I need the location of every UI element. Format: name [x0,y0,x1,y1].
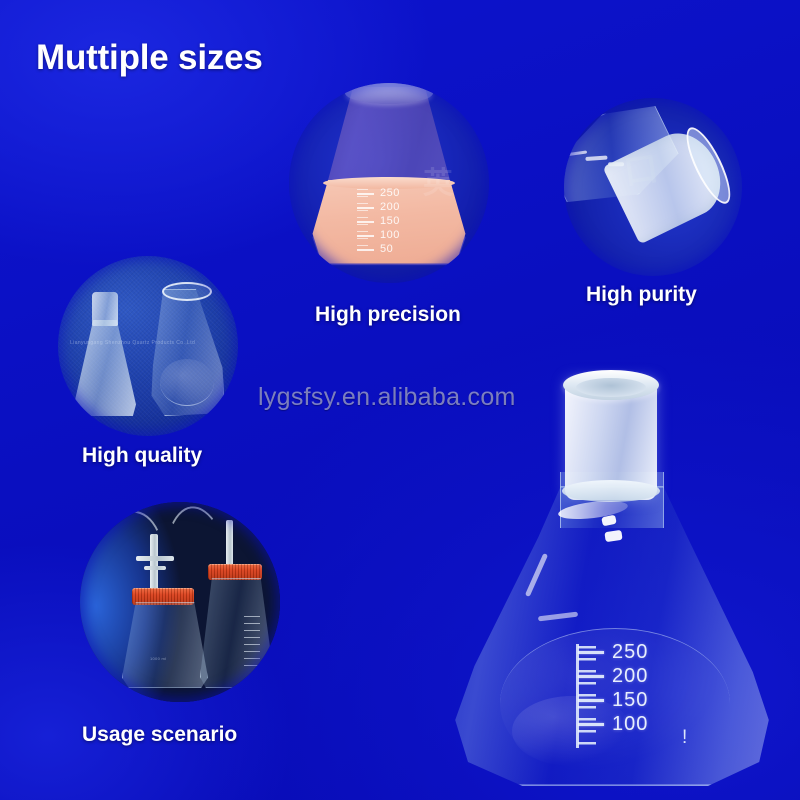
graduation-row: 150 [578,688,698,712]
graduation-label: 150 [612,690,648,710]
photo-high-quality: Lianyungang Shenzhou Quartz Products Co.… [58,256,238,436]
caption-usage-scenario: Usage scenario [82,723,237,747]
photo-tile-high-purity[interactable]: 口 [564,98,742,276]
bottle-cap [208,564,262,580]
glass-highlight [585,156,607,162]
graduation-tick [357,249,374,251]
sampling-stem [226,520,233,568]
stopcock-arm [144,566,166,570]
clear-flask [150,282,222,414]
graduation-tick [357,193,374,195]
graduation-tick [357,235,374,237]
caption-high-quality: High quality [82,444,202,468]
graduation-label: 250 [612,642,648,662]
flask-right [200,520,272,686]
graduation-scale: 250 200 150 100 [357,187,433,257]
flask-body [74,320,136,416]
flask-rim [162,282,212,301]
graduation-tick [357,221,374,223]
graduation-row: 250 [578,640,698,664]
graduation-label: 150 [380,216,400,227]
flask-rim [345,83,433,104]
joint-base-ring [562,480,660,502]
joint-mouth-opening [576,378,646,397]
caption-high-purity: High purity [586,283,697,307]
flask-cone [200,578,274,688]
graduation-row: 250 [357,187,433,201]
photo-high-precision: 英 250 200 150 [289,83,489,283]
graduation-row: 100 [357,229,433,243]
graduation-label: 100 [612,714,648,734]
graduation-label: 200 [612,666,648,686]
photo-high-purity: 口 [564,98,742,276]
photo-tile-usage-scenario[interactable]: 1000 ml [80,502,280,702]
graduation-row: 150 [357,215,433,229]
flask-left: 1000 ml [122,534,206,684]
graduation-mark-symbol: ! [682,728,687,747]
sampling-stem [150,534,158,592]
photo-stamp-text: Lianyungang Shenzhou Quartz Products Co.… [70,340,228,346]
photo-tile-high-precision[interactable]: 英 250 200 150 [289,83,489,283]
joint-opening-ring [678,122,738,209]
flask-cone [122,602,208,688]
graduation-label: 50 [380,244,393,255]
flask-neck [92,292,118,326]
graduation-tick [578,651,604,654]
glass-highlight [564,150,587,157]
graduation-tick [578,723,604,726]
graduation-label: 250 [380,188,400,199]
pink-filled-flask: 英 250 200 150 [311,85,467,267]
caption-high-precision: High precision [315,303,461,327]
main-product-flask: 250 200 150 100 ! [452,376,772,796]
graduation-label: 200 [380,202,400,213]
flask-label: 1000 ml [150,656,166,661]
page-title: Muttiple sizes [36,38,263,78]
graduation-row: 200 [578,664,698,688]
flask-graduations [244,616,260,670]
graduation-tick [578,675,604,678]
frosted-flask [74,292,136,416]
graduation-label: 100 [380,230,400,241]
graduation-scale: 250 200 150 100 [578,640,698,736]
stopcock-arm [136,556,174,561]
photo-tile-high-quality[interactable]: Lianyungang Shenzhou Quartz Products Co.… [58,256,238,436]
photo-usage-scenario: 1000 ml [80,502,280,702]
graduation-row: 200 [357,201,433,215]
graduation-tick [578,699,604,702]
flask-belly-highlight [160,359,214,406]
graduation-row: 50 [357,243,433,257]
product-image-canvas: Muttiple sizes 英 250 200 [0,0,800,800]
graduation-row: 100 [578,712,698,736]
graduation-tick [357,207,374,209]
